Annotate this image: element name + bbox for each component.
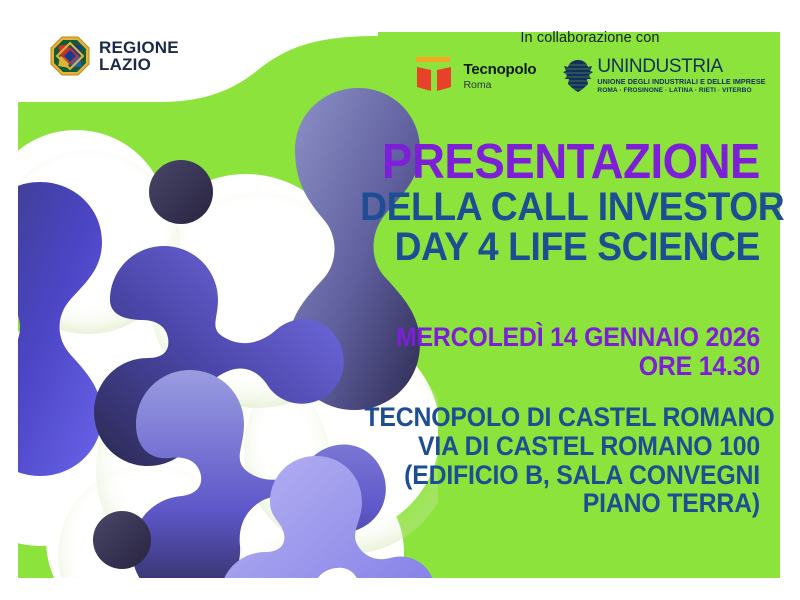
event-time: ORE 14.30 — [364, 352, 760, 381]
unindustria-tagline: UNIONE DEGLI INDUSTRIALI E DELLE IMPRESE — [597, 78, 765, 86]
unindustria-name: UNINDUSTRIA — [597, 58, 765, 76]
collaboration-label: In collaborazione con — [400, 30, 780, 46]
tecnopolo-logo: Tecnopolo Roma — [414, 57, 536, 95]
collaboration-block: In collaborazione con Tecnopolo Roma — [400, 30, 780, 95]
unindustria-eagle-mark-icon — [562, 59, 594, 93]
tecnopolo-name: Tecnopolo — [463, 62, 536, 77]
unindustria-logo: UNINDUSTRIA UNIONE DEGLI INDUSTRIALI E D… — [562, 58, 765, 95]
event-venue-block: TECNOPOLO DI CASTEL ROMANO VIA DI CASTEL… — [364, 403, 760, 519]
regione-lazio-label: REGIONE LAZIO — [99, 39, 179, 74]
event-date-block: MERCOLEDÌ 14 GENNAIO 2026 ORE 14.30 — [364, 323, 760, 381]
unindustria-cities: ROMA · FROSINONE · LATINA · RIETI · VITE… — [597, 87, 765, 95]
partner-logos: Tecnopolo Roma — [400, 57, 780, 95]
regione-lazio-logo: REGIONE LAZIO — [50, 30, 200, 82]
venue-line-3: (EDIFICIO B, SALA CONVEGNI — [364, 461, 760, 490]
venue-line-1: TECNOPOLO DI CASTEL ROMANO — [364, 403, 760, 432]
page-title: PRESENTAZIONE — [360, 140, 760, 185]
poster-subtitle: DELLA CALL INVESTOR DAY 4 LIFE SCIENCE — [360, 187, 760, 267]
poster-copy: PRESENTAZIONE DELLA CALL INVESTOR DAY 4 … — [330, 140, 760, 518]
subtitle-line-1: DELLA CALL INVESTOR — [360, 187, 760, 227]
tecnopolo-text: Tecnopolo Roma — [463, 62, 536, 91]
tecnopolo-logo-mark-icon — [414, 57, 454, 95]
subtitle-line-2: DAY 4 LIFE SCIENCE — [360, 227, 760, 267]
unindustria-text: UNINDUSTRIA UNIONE DEGLI INDUSTRIALI E D… — [597, 58, 765, 95]
molecule-dot-2 — [93, 511, 151, 569]
event-date: MERCOLEDÌ 14 GENNAIO 2026 — [364, 323, 760, 352]
event-poster: REGIONE LAZIO In collaborazione con Tecn… — [0, 0, 800, 600]
venue-line-4: PIANO TERRA) — [364, 489, 760, 518]
regione-lazio-emblem-icon — [50, 36, 90, 76]
molecule-dot-1 — [149, 160, 213, 224]
tecnopolo-subtitle: Roma — [463, 80, 536, 91]
venue-line-2: VIA DI CASTEL ROMANO 100 — [364, 432, 760, 461]
